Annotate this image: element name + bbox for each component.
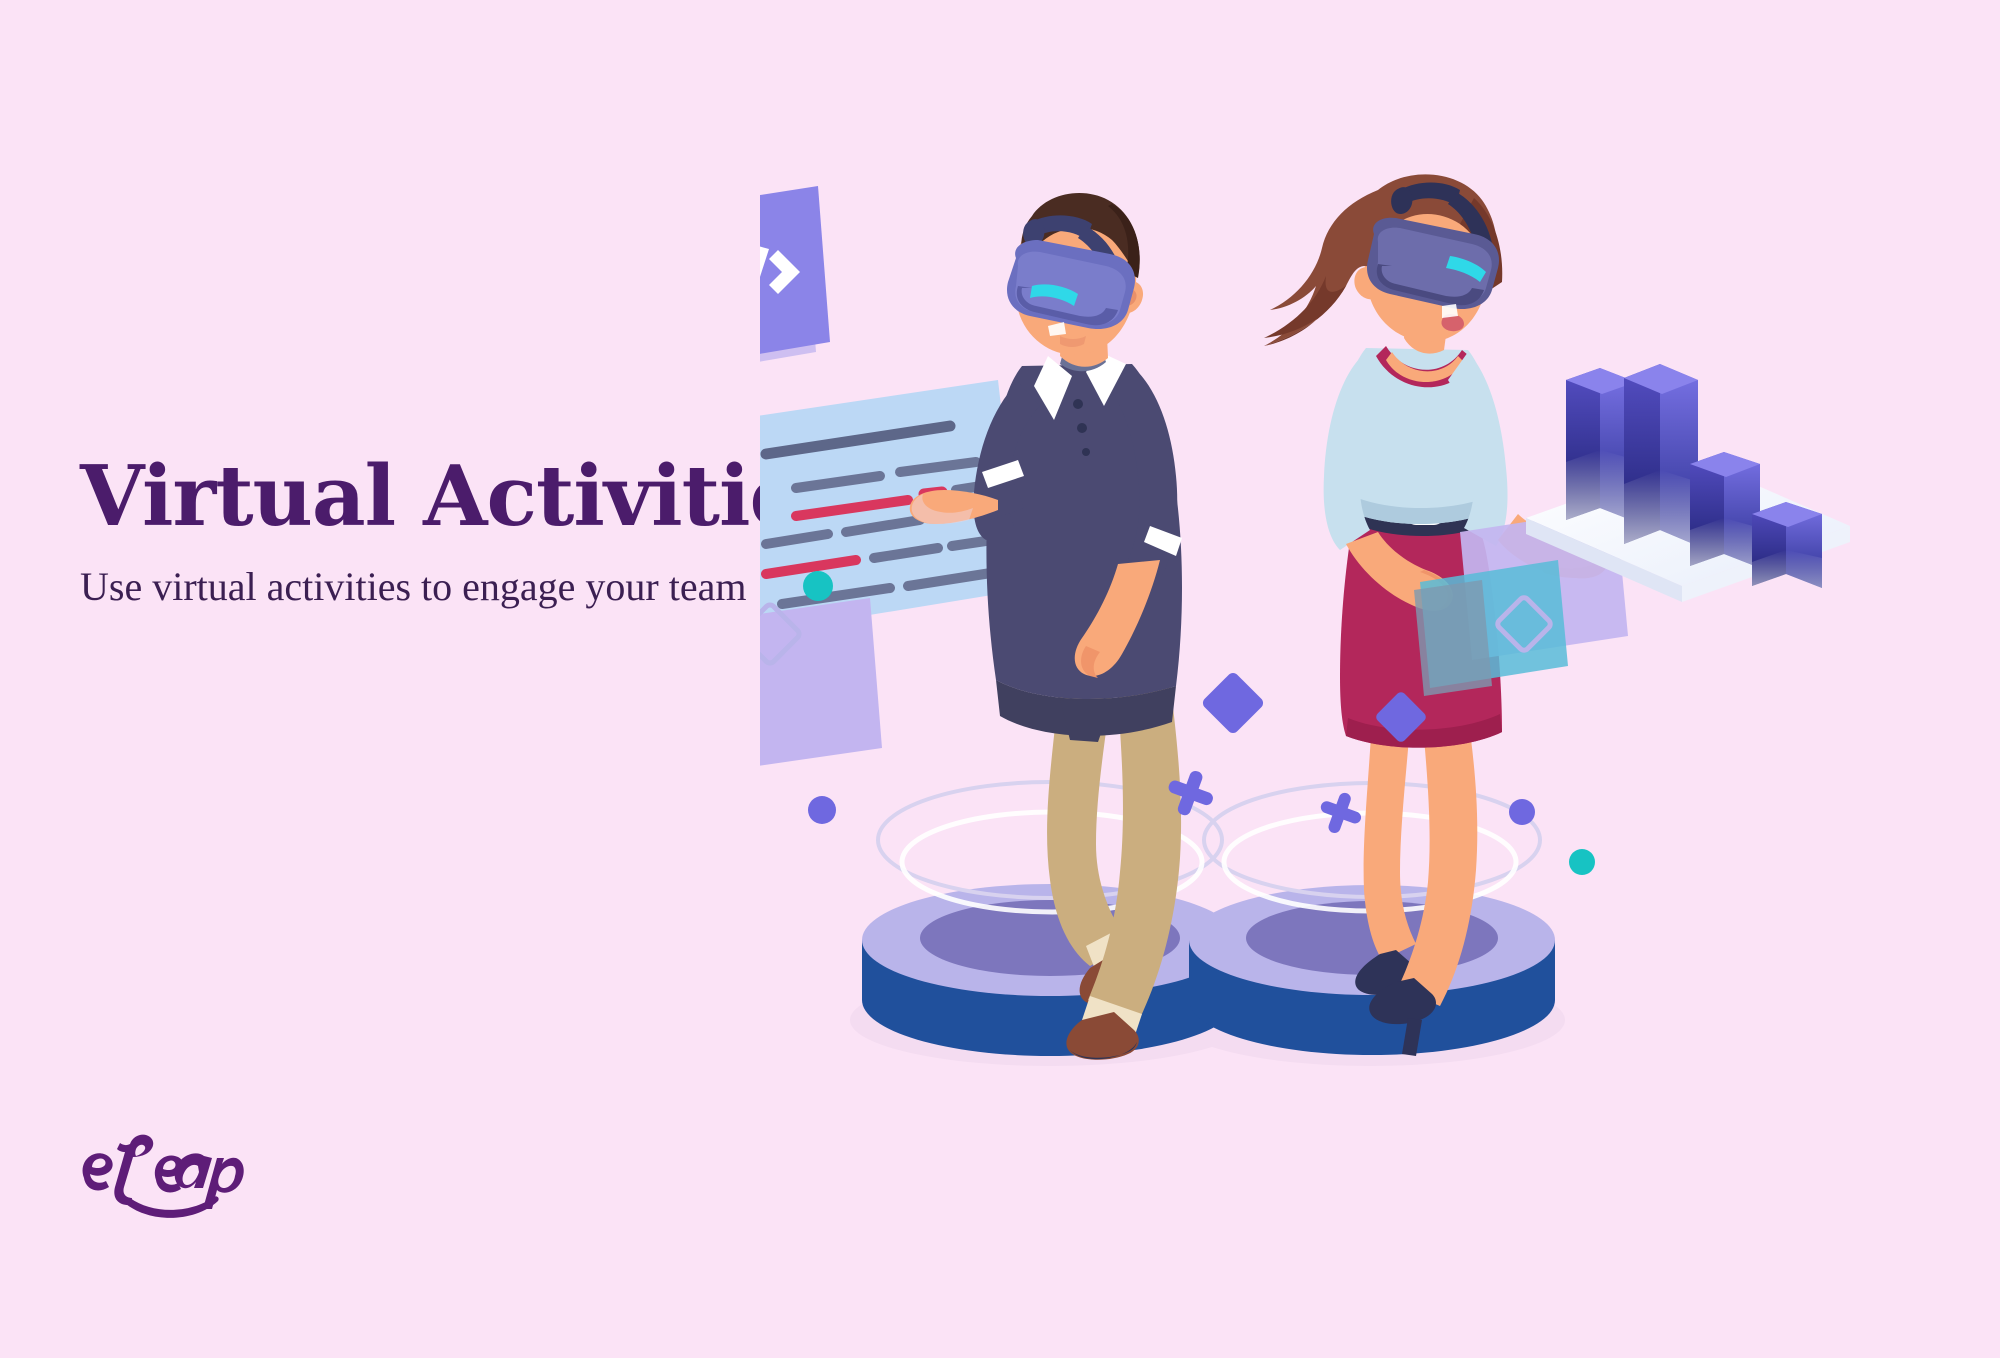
code-panel bbox=[760, 186, 830, 378]
lavender-panel bbox=[760, 598, 882, 770]
teal-dot bbox=[1569, 849, 1595, 875]
vr-team-illustration bbox=[760, 120, 1940, 1190]
chart-bar-2 bbox=[1624, 364, 1698, 546]
teal-dot bbox=[803, 571, 833, 601]
small-dot bbox=[808, 796, 836, 824]
chart-bar-4 bbox=[1752, 502, 1822, 588]
eleap-logo[interactable] bbox=[72, 1120, 272, 1220]
purple-diamond bbox=[1200, 670, 1265, 735]
small-dot bbox=[1509, 799, 1535, 825]
poster-canvas: Virtual Activities Use virtual activitie… bbox=[0, 0, 2000, 1358]
chart-bar-3 bbox=[1690, 452, 1760, 568]
